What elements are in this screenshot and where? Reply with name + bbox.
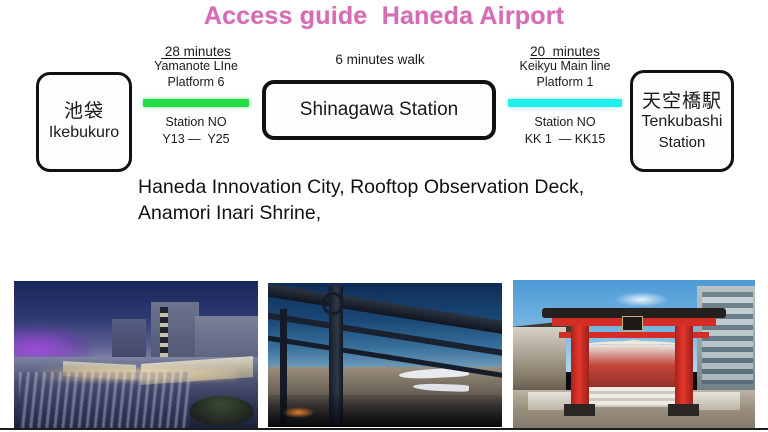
segment-platform: Platform 1 <box>502 75 628 91</box>
station-name-en-line2: Station <box>659 134 706 152</box>
station-box-ikebukuro[interactable]: 池袋 Ikebukuro <box>36 72 132 172</box>
segment-duration: 20 minutes <box>502 44 628 59</box>
station-name-en: Tenkubashi <box>642 113 723 132</box>
station-name-jp: 天空橋駅 <box>642 91 722 113</box>
bottom-divider <box>0 428 768 430</box>
station-name-en: Shinagawa Station <box>300 99 458 121</box>
station-name-jp: 池袋 <box>64 101 104 123</box>
line-color-bar-keikyu <box>508 99 622 107</box>
segment-station-no-range: KK 1 — KK15 <box>502 131 628 147</box>
station-box-shinagawa[interactable]: Shinagawa Station <box>262 80 496 140</box>
caption-line-1: Haneda Innovation City, Rooftop Observat… <box>138 174 738 200</box>
route-segment-yamanote: 28 minutes Yamanote LIne Platform 6 Stat… <box>137 44 255 147</box>
segment-station-no-label: Station NO <box>137 114 255 130</box>
station-box-tenkubashi[interactable]: 天空橋駅 Tenkubashi Station <box>630 70 734 172</box>
page-title: Access guide Haneda Airport <box>0 2 768 31</box>
route-diagram: 池袋 Ikebukuro 28 minutes Yamanote LIne Pl… <box>0 40 768 180</box>
route-segment-keikyu: 20 minutes Keikyu Main line Platform 1 S… <box>502 44 628 147</box>
segment-line-name: Yamanote LIne <box>137 59 255 75</box>
segment-duration: 28 minutes <box>137 44 255 59</box>
line-color-bar-yamanote <box>143 99 249 107</box>
station-name-en: Ikebukuro <box>49 124 119 143</box>
segment-station-no-label: Station NO <box>502 114 628 130</box>
segment-platform: Platform 6 <box>137 75 255 91</box>
segment-line-name: Keikyu Main line <box>502 59 628 75</box>
caption-line-2: Anamori Inari Shrine, <box>138 200 738 226</box>
segment-station-no-range: Y13 — Y25 <box>137 131 255 147</box>
photo-anamori-inari-shrine <box>513 280 755 428</box>
photo-rooftop-observation-deck <box>268 283 502 427</box>
photo-haneda-innovation-city <box>14 281 258 428</box>
destinations-caption: Haneda Innovation City, Rooftop Observat… <box>138 174 738 227</box>
walk-transfer-label: 6 minutes walk <box>288 52 472 67</box>
